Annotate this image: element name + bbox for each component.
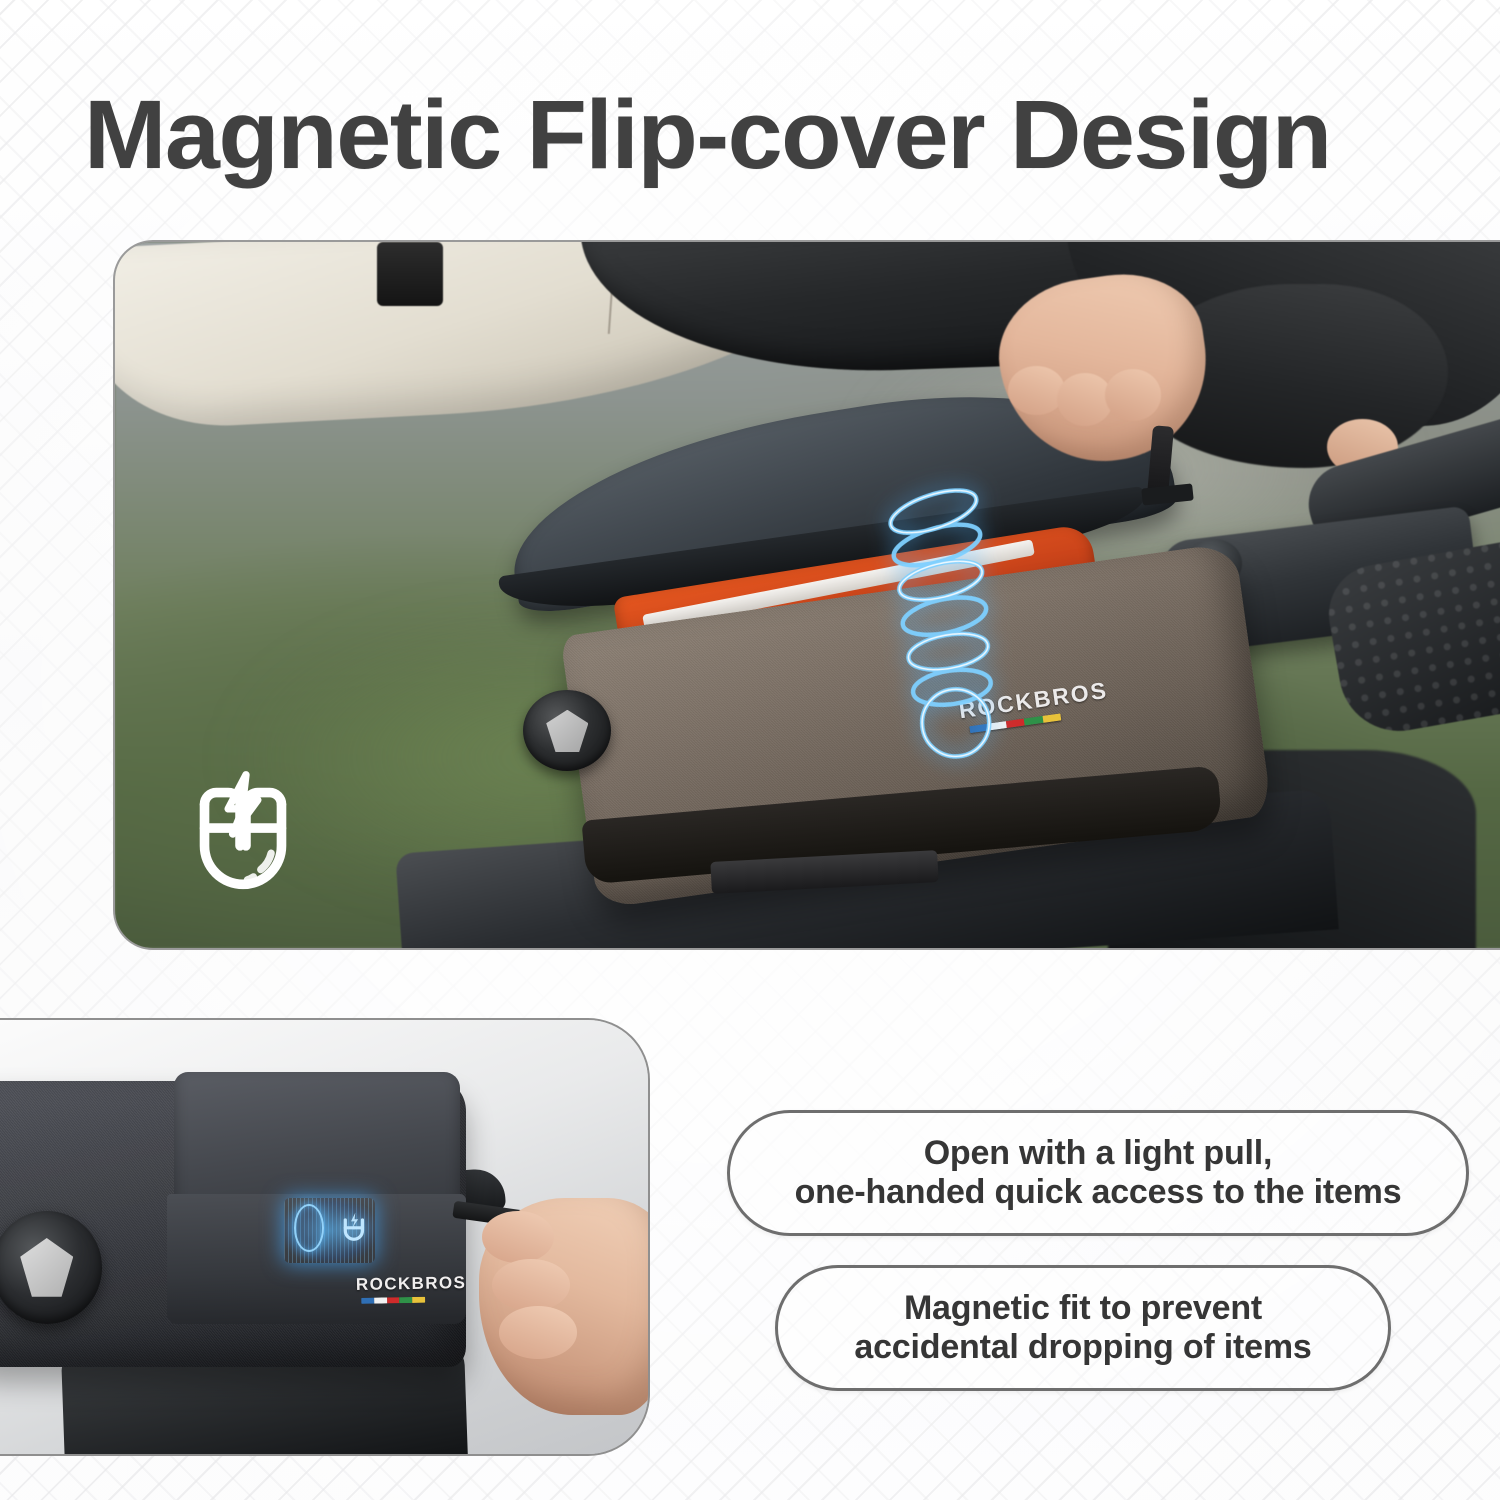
callout-magnetic-fit: Magnetic fit to prevent accidental dropp… bbox=[775, 1265, 1391, 1391]
detail-finger bbox=[492, 1259, 570, 1311]
detail-magnet-glow-ring bbox=[294, 1204, 324, 1252]
magnet-icon bbox=[168, 760, 318, 908]
sleeve-velcro-patch bbox=[377, 242, 442, 306]
brand-wordmark: ROCKBROS bbox=[355, 1273, 466, 1295]
callout-text: Open with a light pull, one-handed quick… bbox=[769, 1134, 1428, 1213]
callout-text: Magnetic fit to prevent accidental dropp… bbox=[828, 1289, 1337, 1368]
hero-product-photo: ROCKBROS bbox=[113, 240, 1500, 950]
page-title: Magnetic Flip-cover Design bbox=[84, 86, 1471, 183]
magnet-icon bbox=[336, 1209, 372, 1248]
magnetic-field-coil-effect bbox=[818, 471, 1072, 762]
detail-bag-brand-logo: ROCKBROS bbox=[355, 1273, 466, 1304]
detail-finger bbox=[499, 1306, 577, 1358]
detail-finger bbox=[482, 1211, 554, 1263]
rider-finger bbox=[1008, 366, 1065, 415]
brand-stripe-bar bbox=[361, 1297, 425, 1304]
callout-open-with-light-pull: Open with a light pull, one-handed quick… bbox=[727, 1110, 1469, 1236]
marketing-image: Magnetic Flip-cover Design ROCKBROS bbox=[0, 0, 1500, 1500]
detail-product-photo: ROCKBROS bbox=[0, 1018, 650, 1456]
